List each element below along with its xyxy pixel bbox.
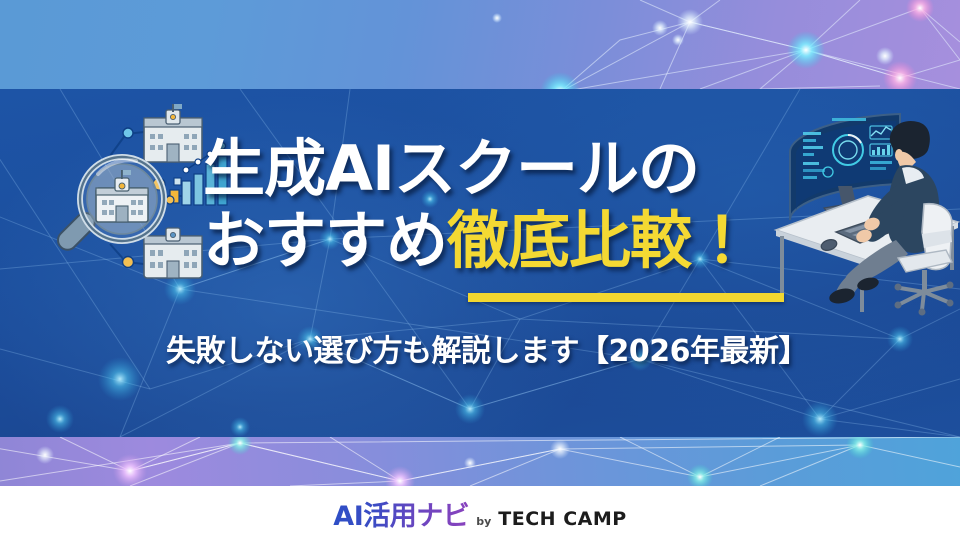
- logo-by-text: by: [476, 515, 491, 528]
- footer-strip: AI活用ナビ by TECH CAMP: [0, 486, 960, 540]
- highlight-underline: [468, 293, 784, 302]
- logo-tech-camp-text: TECH CAMP: [498, 508, 626, 530]
- headline-highlight-text: 徹底比較！: [447, 204, 752, 277]
- headline-line-2: おすすめ徹底比較！: [203, 210, 960, 272]
- headline-block: 生成AIスクールの おすすめ徹底比較！: [0, 138, 960, 272]
- headline-line-2-plain: おすすめ: [203, 204, 447, 277]
- subtitle-text: 失敗しない選び方も解説します【2026年最新】: [0, 326, 960, 370]
- headline-line-1: 生成AIスクールの: [203, 138, 960, 200]
- brand-logo[interactable]: AI活用ナビ by TECH CAMP: [333, 494, 626, 533]
- network-pattern-top: [0, 0, 960, 89]
- banner-root: 生成AIスクールの おすすめ徹底比較！ 失敗しない選び方も解説します【2026年…: [0, 0, 960, 540]
- top-gradient-band: [0, 0, 960, 89]
- logo-ai-navi-text: AI活用ナビ: [333, 494, 469, 533]
- network-pattern-bottom: [0, 437, 960, 486]
- bottom-gradient-band: [0, 437, 960, 486]
